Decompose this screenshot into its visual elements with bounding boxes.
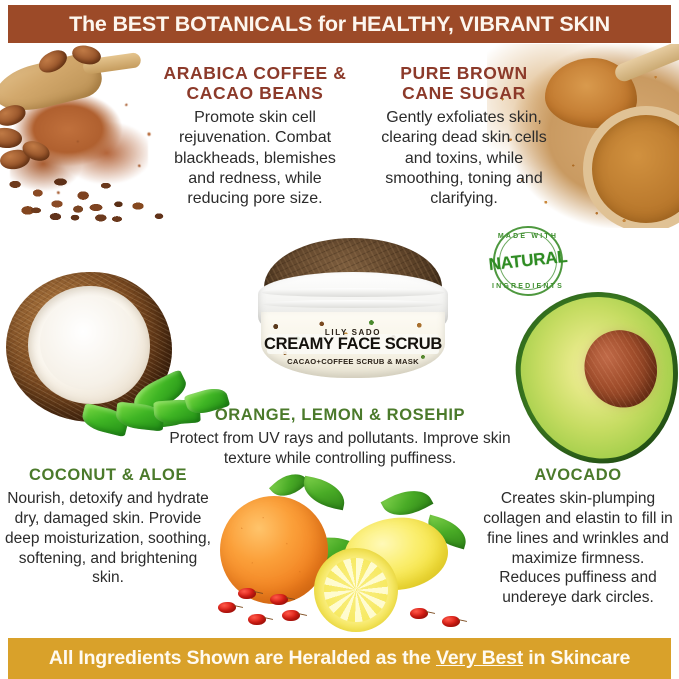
ingredient-body-avocado: Creates skin-plumping collagen and elast… [480, 489, 676, 608]
cacao-nib-scatter-image [24, 196, 174, 232]
lemon-half-shape [314, 548, 398, 632]
made-with-natural-ingredients-badge: MADE WITH NATURAL INGREDIENTS [489, 222, 567, 300]
header-title: The BEST BOTANICALS for HEALTHY, VIBRANT… [69, 12, 610, 37]
product-subtitle: CACAO+COFFEE SCRUB & MASK [261, 357, 445, 366]
citrus-leaf-shape [300, 476, 348, 511]
infographic-canvas: The BEST BOTANICALS for HEALTHY, VIBRANT… [0, 0, 679, 679]
badge-bottom-text: INGREDIENTS [489, 283, 567, 290]
avocado-half-image [509, 288, 679, 470]
rosehip-berry-shape [442, 616, 460, 627]
ingredient-body-coffee-cacao: Promote skin cell rejuvenation. Combat b… [160, 108, 350, 210]
footer-text: All Ingredients Shown are Heralded as th… [49, 647, 630, 670]
product-jar-image[interactable]: LILY SADO CREAMY FACE SCRUB CACAO+COFFEE… [258, 238, 448, 396]
rosehip-berry-shape [410, 608, 428, 619]
ingredient-block-avocado: AVOCADO Creates skin-plumping collagen a… [480, 466, 676, 608]
ingredient-body-citrus-rosehip: Protect from UV rays and pollutants. Imp… [168, 429, 512, 469]
ingredient-heading-brown-sugar: PURE BROWN CANE SUGAR [373, 63, 555, 104]
orange-fruit-shape [220, 496, 328, 604]
rosehip-berry-shape [270, 594, 288, 605]
footer-text-before: All Ingredients Shown are Heralded as th… [49, 647, 436, 669]
ingredient-heading-citrus-rosehip: ORANGE, LEMON & ROSEHIP [168, 406, 512, 425]
footer-text-after: in Skincare [523, 647, 630, 669]
orange-lemon-rosehip-image [214, 474, 472, 634]
ingredient-block-brown-sugar: PURE BROWN CANE SUGAR Gently exfoliates … [373, 63, 555, 210]
rosehip-berry-shape [218, 602, 236, 613]
ingredient-heading-coffee-cacao: ARABICA COFFEE & CACAO BEANS [160, 63, 350, 104]
ingredient-block-citrus-rosehip: ORANGE, LEMON & ROSEHIP Protect from UV … [168, 406, 512, 469]
jar-label: LILY SADO CREAMY FACE SCRUB CACAO+COFFEE… [261, 312, 445, 378]
badge-top-text: MADE WITH [489, 233, 567, 240]
rosehip-berry-shape [238, 588, 256, 599]
rosehip-berry-shape [248, 614, 266, 625]
ingredient-body-coconut-aloe: Nourish, detoxify and hydrate dry, damag… [4, 489, 212, 588]
ingredient-block-coffee-cacao: ARABICA COFFEE & CACAO BEANS Promote ski… [160, 63, 350, 210]
ingredient-heading-coconut-aloe: COCONUT & ALOE [4, 466, 212, 485]
footer-text-underlined: Very Best [436, 647, 523, 669]
rosehip-berry-shape [282, 610, 300, 621]
footer-banner: All Ingredients Shown are Heralded as th… [8, 638, 671, 679]
ingredient-block-coconut-aloe: COCONUT & ALOE Nourish, detoxify and hyd… [4, 466, 212, 588]
ingredient-body-brown-sugar: Gently exfoliates skin, clearing dead sk… [373, 108, 555, 210]
product-name: CREAMY FACE SCRUB [263, 336, 443, 353]
ingredient-heading-avocado: AVOCADO [480, 466, 676, 485]
header-banner: The BEST BOTANICALS for HEALTHY, VIBRANT… [8, 5, 671, 43]
